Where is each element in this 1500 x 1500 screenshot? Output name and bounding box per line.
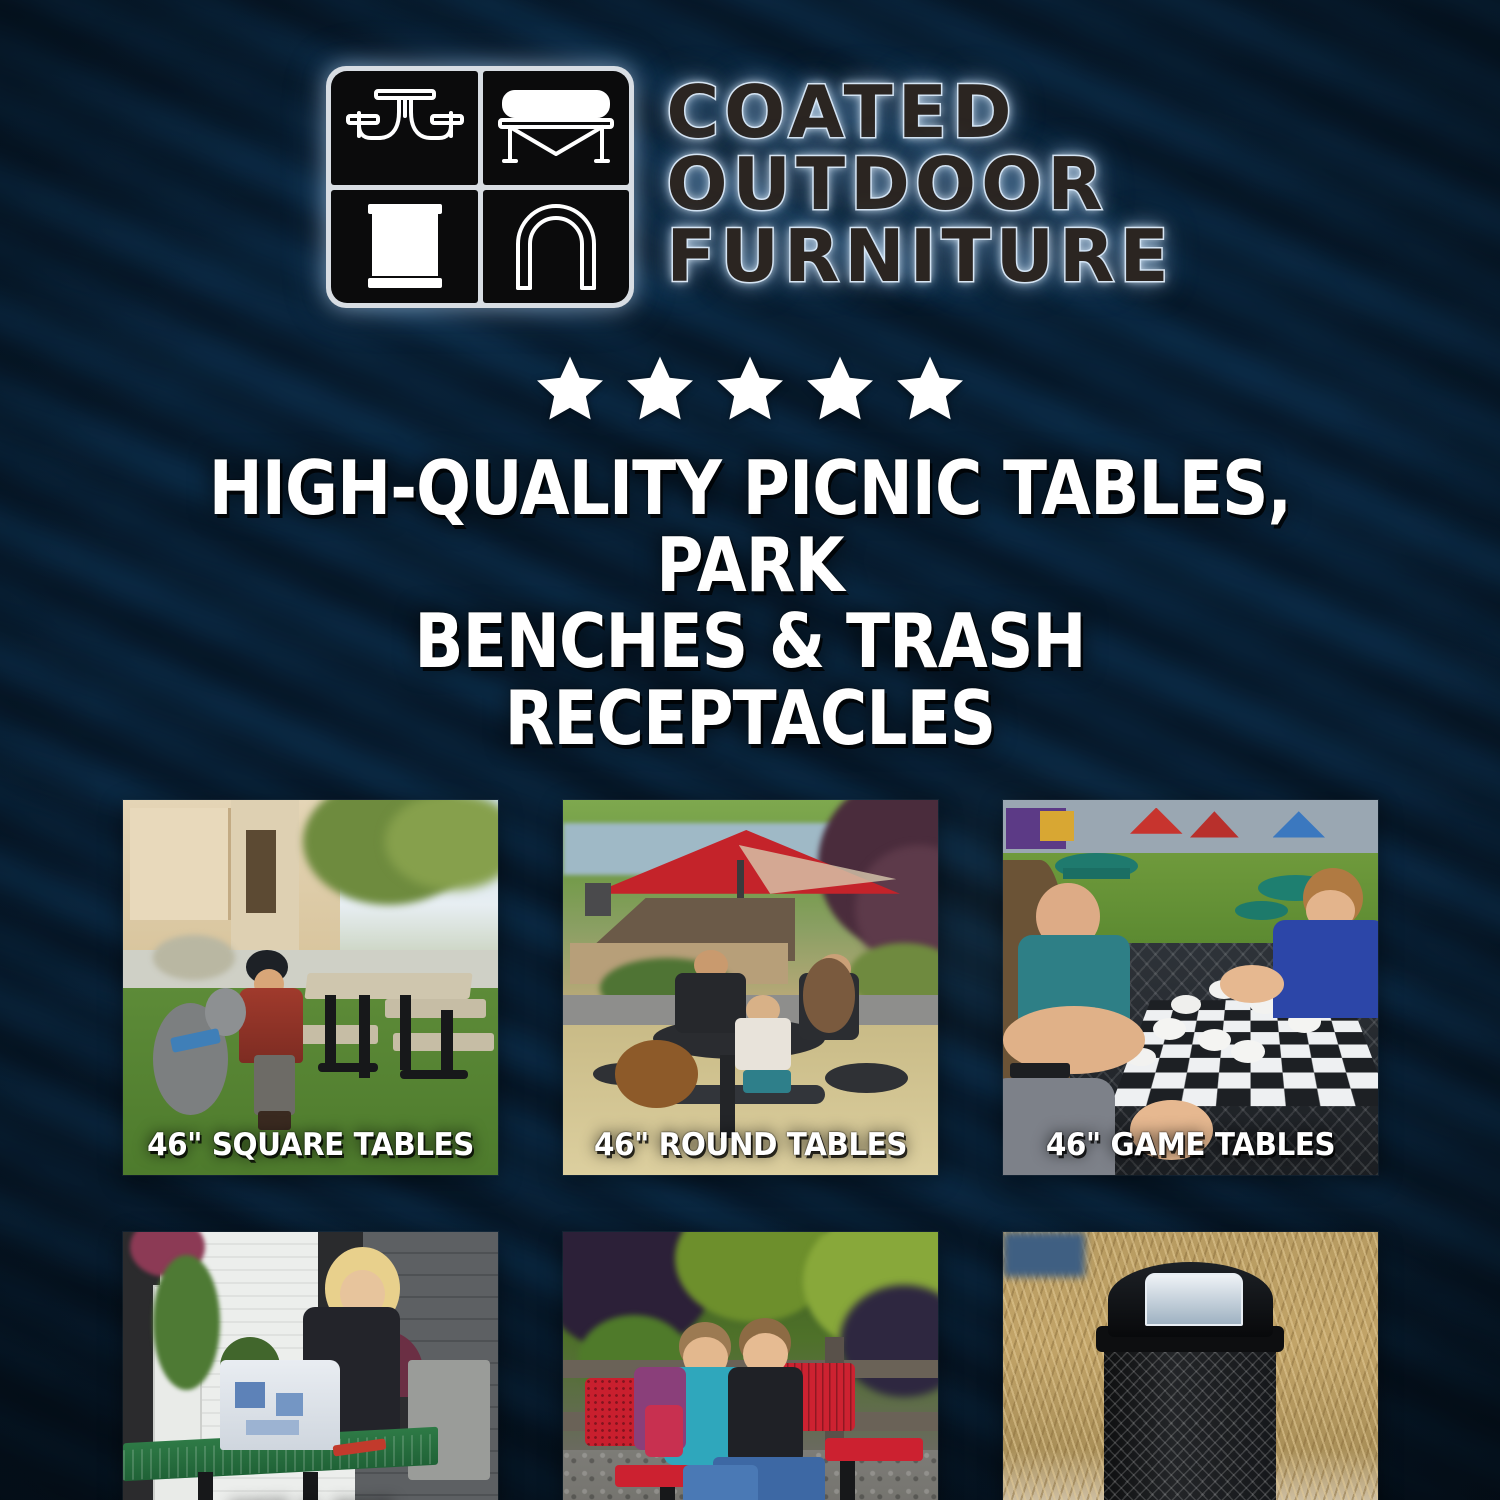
headline-line-1: HIGH-QUALITY PICNIC TABLES, PARK [187,450,1314,603]
round-tables-photo [563,800,938,1175]
page-title: HIGH-QUALITY PICNIC TABLES, PARK BENCHES… [187,450,1314,756]
logo-mark [326,66,634,308]
product-grid: 46" SQUARE TABLES [123,800,1378,1500]
trash-receptacles-photo [1003,1232,1378,1500]
product-caption-line-1: 46" ROUND TABLES [593,1127,906,1163]
brand-header: COATED OUTDOOR FURNITURE [0,0,1500,308]
headline-line-2: BENCHES & TRASH RECEPTACLES [187,603,1314,756]
flat-lid-trash-icon [331,190,478,304]
bench-icon [483,71,630,185]
star-icon [713,352,787,424]
star-icon [623,352,697,424]
benches-photo [563,1232,938,1500]
star-icon [803,352,877,424]
brand-line-2: OUTDOOR [666,150,1173,220]
dome-lid-trash-icon [483,190,630,304]
product-caption: 46" GAME TABLES [1012,1130,1368,1161]
square-tables-photo [123,800,498,1175]
product-tile-trash-receptacles[interactable]: DOME & FLAT LID TRASH RECEPTACLES [1003,1232,1378,1500]
product-tile-benches[interactable]: 6FT & 8FT BENCHES [563,1232,938,1500]
advertisement-canvas: COATED OUTDOOR FURNITURE HIGH-QUALITY PI… [0,0,1500,1500]
product-caption-line-1: 46" SQUARE TABLES [147,1127,474,1163]
rectangular-tables-photo [123,1232,498,1500]
star-icon [893,352,967,424]
product-caption: 46" ROUND TABLES [572,1130,928,1161]
brand-wordmark: COATED OUTDOOR FURNITURE [666,78,1173,295]
product-tile-round-tables[interactable]: 46" ROUND TABLES [563,800,938,1175]
picnic-table-icon [331,71,478,185]
brand-line-1: COATED [666,78,1173,148]
product-caption: 46" SQUARE TABLES [132,1130,488,1161]
product-caption-line-1: 46" GAME TABLES [1045,1127,1334,1163]
star-icon [533,352,607,424]
product-tile-square-tables[interactable]: 46" SQUARE TABLES [123,800,498,1175]
game-tables-photo [1003,800,1378,1175]
product-tile-rectangular-tables[interactable]: 6FT & 8FT RECTANGULAR TABLES [123,1232,498,1500]
star-rating [0,352,1500,424]
product-tile-game-tables[interactable]: 46" GAME TABLES [1003,800,1378,1175]
brand-line-3: FURNITURE [666,222,1173,292]
